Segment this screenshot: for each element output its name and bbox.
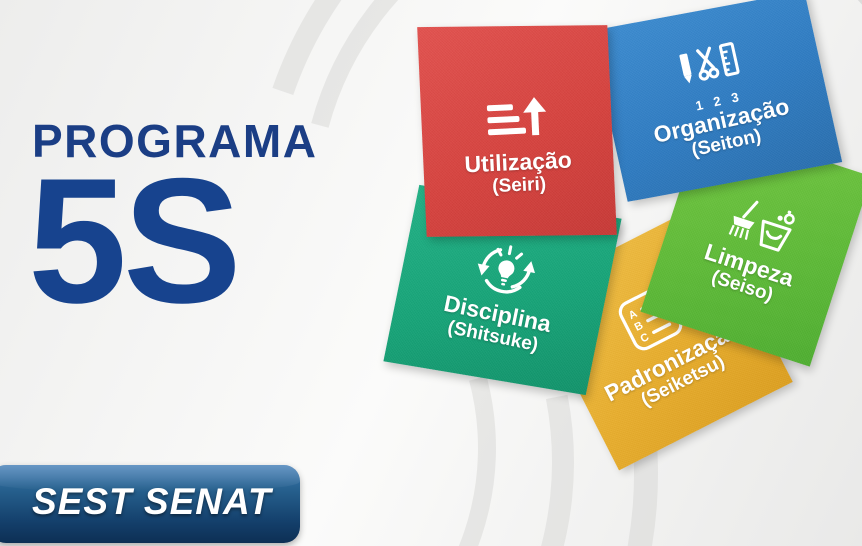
svg-text:C: C [639,331,652,345]
poster-5s: PROGRAMA 5S SEST SENAT Utilização [0,0,862,546]
lightbulb-cycle-icon [471,236,542,299]
card-subtitle: (Seiri) [492,173,547,197]
page-title-5s: 5S [28,166,358,316]
card-utilizacao[interactable]: Utilização (Seiri) [417,25,617,237]
5s-card-group: Utilização (Seiri) [395,0,862,546]
sest-senat-logo: SEST SENAT [0,465,300,543]
pencil-scissors-ruler-icon [674,38,743,90]
sest-senat-logo-text: SEST SENAT [32,481,272,523]
bars-up-arrow-icon [484,94,548,143]
title-block: PROGRAMA 5S [28,118,358,316]
card-title: Utilização [464,147,572,177]
